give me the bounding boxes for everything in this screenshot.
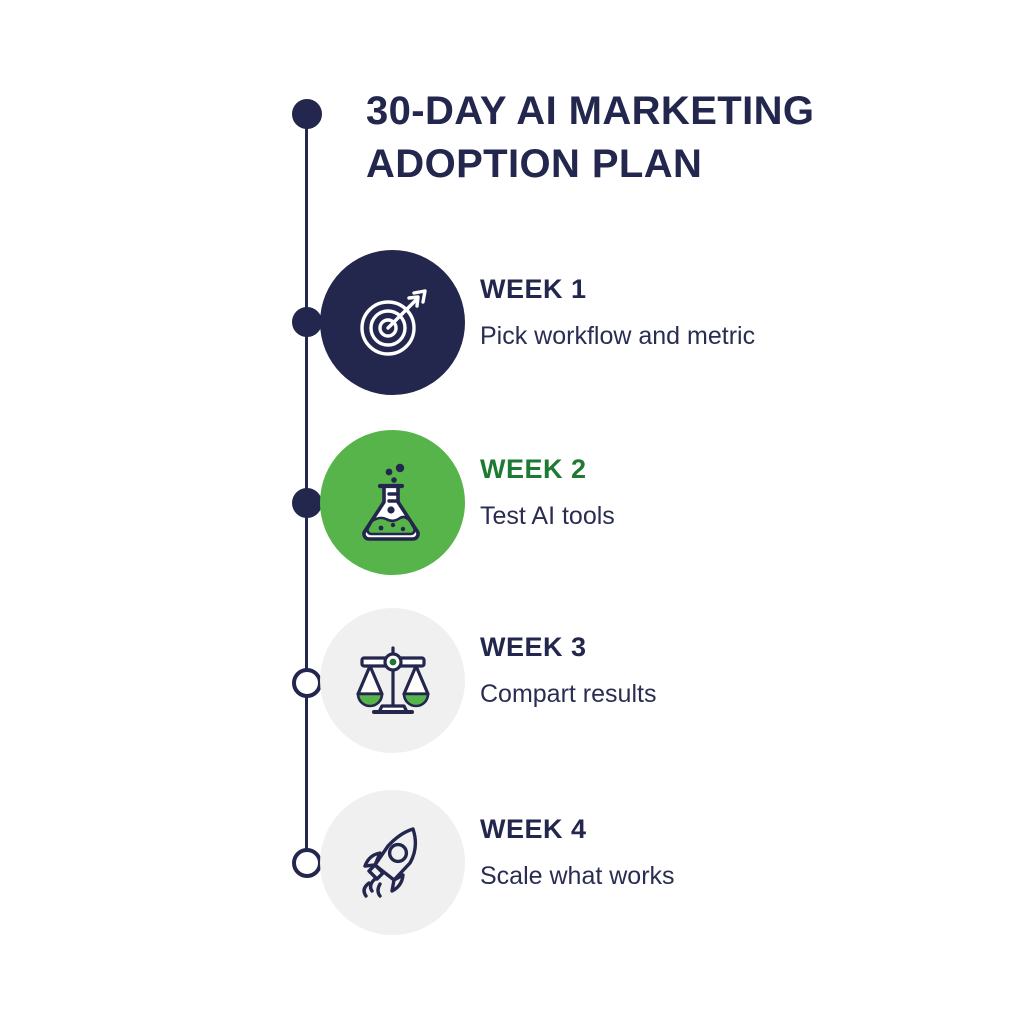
flask-icon bbox=[348, 458, 438, 548]
week-3-icon-circle bbox=[320, 608, 465, 753]
timeline-node-week-1 bbox=[292, 307, 322, 337]
week-4-label: WEEK 4 bbox=[480, 812, 950, 846]
week-item-3[interactable]: WEEK 3 Compart results bbox=[320, 608, 960, 753]
rocket-icon bbox=[347, 817, 439, 909]
week-item-2[interactable]: WEEK 2 Test AI tools bbox=[320, 430, 960, 575]
week-3-label: WEEK 3 bbox=[480, 630, 950, 664]
timeline-node-title bbox=[292, 99, 322, 129]
week-item-4[interactable]: WEEK 4 Scale what works bbox=[320, 790, 960, 935]
week-2-text-block: WEEK 2 Test AI tools bbox=[480, 452, 950, 532]
week-4-text-block: WEEK 4 Scale what works bbox=[480, 812, 950, 892]
week-3-description: Compart results bbox=[480, 678, 950, 710]
week-1-description: Pick workflow and metric bbox=[480, 320, 950, 352]
week-2-icon-circle bbox=[320, 430, 465, 575]
week-2-description: Test AI tools bbox=[480, 500, 950, 532]
week-4-description: Scale what works bbox=[480, 860, 950, 892]
timeline-node-week-4 bbox=[292, 848, 322, 878]
week-2-label: WEEK 2 bbox=[480, 452, 950, 486]
timeline-node-week-2 bbox=[292, 488, 322, 518]
week-1-text-block: WEEK 1 Pick workflow and metric bbox=[480, 272, 950, 352]
page-title-line-2: ADOPTION PLAN bbox=[366, 138, 926, 191]
target-icon bbox=[348, 278, 438, 368]
week-item-1[interactable]: WEEK 1 Pick workflow and metric bbox=[320, 250, 960, 395]
page-title: 30-DAY AI MARKETING ADOPTION PLAN bbox=[366, 85, 926, 191]
page-title-line-1: 30-DAY AI MARKETING bbox=[366, 85, 926, 138]
week-4-icon-circle bbox=[320, 790, 465, 935]
infographic-canvas: 30-DAY AI MARKETING ADOPTION PLAN WEEK 1… bbox=[0, 0, 1024, 1024]
timeline-node-week-3 bbox=[292, 668, 322, 698]
week-1-icon-circle bbox=[320, 250, 465, 395]
week-1-label: WEEK 1 bbox=[480, 272, 950, 306]
balance-scales-icon bbox=[346, 634, 440, 728]
week-3-text-block: WEEK 3 Compart results bbox=[480, 630, 950, 710]
